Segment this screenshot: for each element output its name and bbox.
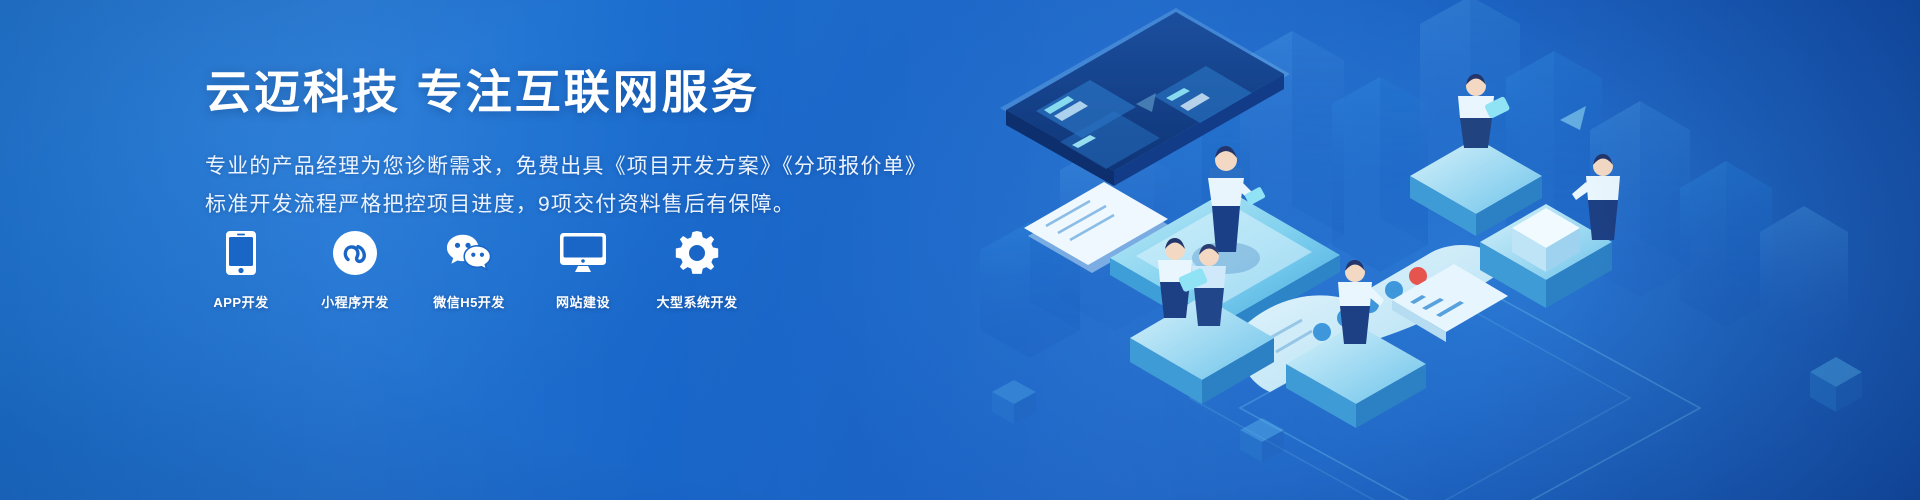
subtitle-line-1: 专业的产品经理为您诊断需求，免费出具《项目开发方案》《分项报价单》 — [205, 148, 965, 187]
hero-copy: 云迈科技 专注互联网服务 专业的产品经理为您诊断需求，免费出具《项目开发方案》《… — [205, 64, 965, 225]
service-label: 网站建设 — [556, 292, 610, 311]
service-item-app[interactable]: APP开发 — [203, 230, 279, 311]
service-item-wechat-h5[interactable]: 微信H5开发 — [431, 230, 507, 311]
floating-cubes — [992, 357, 1862, 462]
service-item-website[interactable]: 网站建设 — [545, 230, 621, 311]
service-item-large-system[interactable]: 大型系统开发 — [659, 230, 735, 311]
gear-icon — [674, 230, 720, 276]
service-list: APP开发 小程序开发 微信 — [203, 230, 735, 311]
mini-program-icon — [332, 230, 378, 276]
service-label: 微信H5开发 — [433, 292, 505, 311]
subtitle-line-2: 标准开发流程严格把控项目进度，9项交付资料售后有保障。 — [205, 186, 965, 225]
service-label: 大型系统开发 — [657, 292, 738, 311]
page-title: 云迈科技 专注互联网服务 — [205, 64, 965, 122]
service-label: 小程序开发 — [321, 292, 389, 311]
isometric-illustration — [940, 0, 1920, 500]
service-item-mini-program[interactable]: 小程序开发 — [317, 230, 393, 311]
wechat-icon — [446, 230, 492, 276]
service-label: APP开发 — [213, 292, 268, 311]
monitor-icon — [560, 230, 606, 276]
hero-banner: 云迈科技 专注互联网服务 专业的产品经理为您诊断需求，免费出具《项目开发方案》《… — [0, 0, 1920, 500]
mobile-phone-icon — [218, 230, 264, 276]
hero-subtitle: 专业的产品经理为您诊断需求，免费出具《项目开发方案》《分项报价单》 标准开发流程… — [205, 148, 965, 226]
